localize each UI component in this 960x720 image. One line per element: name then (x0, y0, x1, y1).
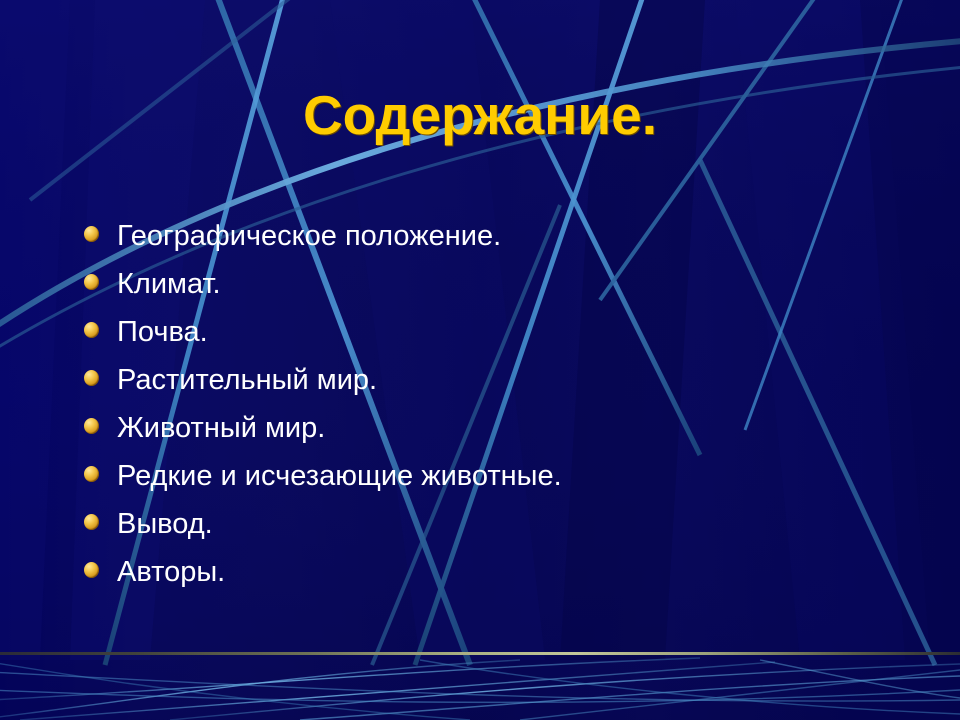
sphere-bullet-icon (84, 466, 99, 482)
list-item-label: Редкие и исчезающие животные. (117, 452, 562, 500)
sphere-bullet-icon (84, 514, 99, 530)
list-item-label: Животный мир. (117, 404, 325, 452)
list-item-label: Почва. (117, 308, 208, 356)
list-item[interactable]: Географическое положение. (80, 212, 940, 260)
list-item-label: Растительный мир. (117, 356, 377, 404)
sphere-bullet-icon (84, 322, 99, 338)
list-item-label: Географическое положение. (117, 212, 501, 260)
sphere-bullet-icon (84, 274, 99, 290)
slide-title: Содержание. (0, 88, 960, 143)
list-item[interactable]: Растительный мир. (80, 356, 940, 404)
list-item[interactable]: Вывод. (80, 500, 940, 548)
presentation-slide: Содержание. Географическое положение. Кл… (0, 0, 960, 720)
slide-content: Содержание. Географическое положение. Кл… (0, 0, 960, 720)
sphere-bullet-icon (84, 370, 99, 386)
table-of-contents-list: Географическое положение. Климат. Почва.… (80, 212, 940, 596)
list-item-label: Вывод. (117, 500, 213, 548)
list-item[interactable]: Почва. (80, 308, 940, 356)
list-item[interactable]: Редкие и исчезающие животные. (80, 452, 940, 500)
list-item[interactable]: Животный мир. (80, 404, 940, 452)
sphere-bullet-icon (84, 418, 99, 434)
list-item-label: Авторы. (117, 548, 225, 596)
list-item[interactable]: Авторы. (80, 548, 940, 596)
list-item-label: Климат. (117, 260, 221, 308)
footer-divider (0, 652, 960, 655)
sphere-bullet-icon (84, 562, 99, 578)
list-item[interactable]: Климат. (80, 260, 940, 308)
sphere-bullet-icon (84, 226, 99, 242)
